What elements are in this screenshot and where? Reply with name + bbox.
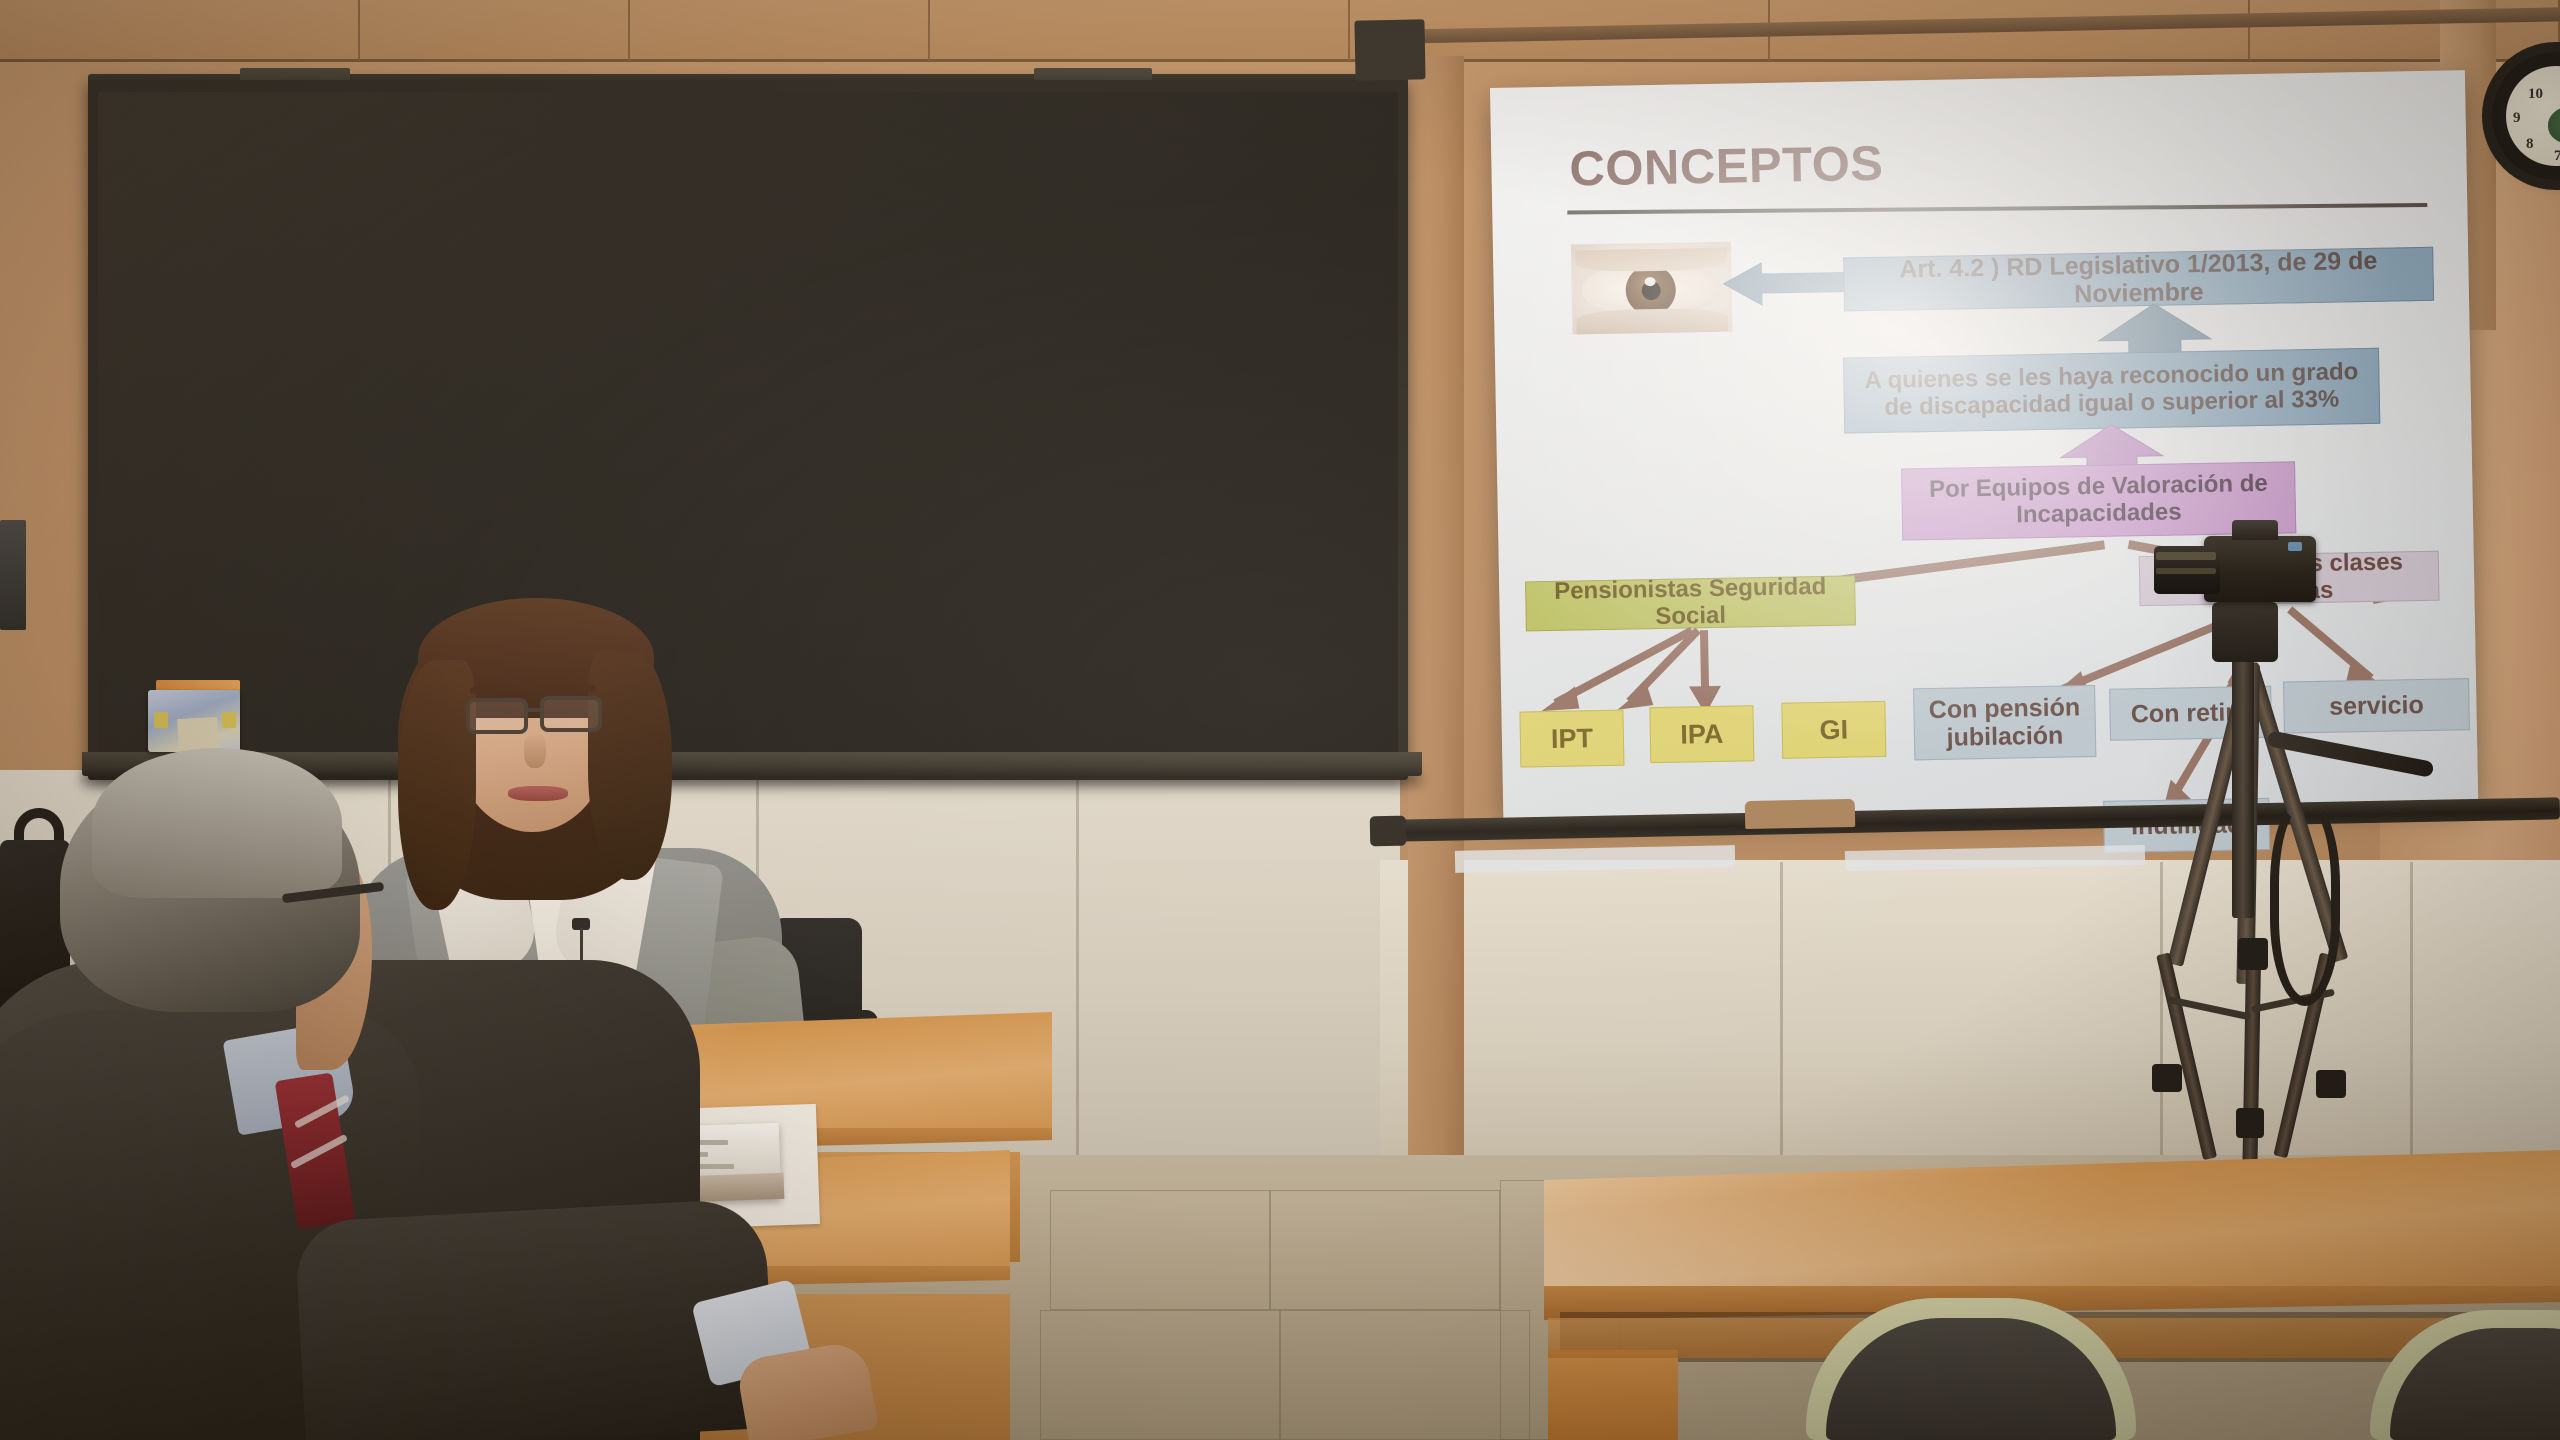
- wall-pillar: [1408, 56, 1464, 1156]
- slide-title: CONCEPTOS: [1569, 136, 1884, 198]
- clock-logo: [2548, 106, 2560, 144]
- slide-box-ipa: IPA: [1649, 705, 1754, 763]
- camera-shutter-button[interactable]: [2288, 542, 2302, 551]
- clock-number-8: 8: [2526, 136, 2534, 153]
- arrow-up-blue-icon: [2094, 303, 2215, 357]
- blackboard: [98, 92, 1398, 764]
- camera-viewfinder: [2232, 520, 2278, 540]
- slide-box-ipt: IPT: [1519, 710, 1624, 768]
- slide-box-pension-jubilacion: Con pensión jubilación: [1913, 685, 2096, 760]
- clock-number-7: 7: [2554, 148, 2560, 165]
- tripod-head: [2212, 602, 2278, 662]
- classroom-scene: 11 10 9 8 7 CONCEPTOS: [0, 0, 2560, 1440]
- clock-number-9: 9: [2513, 110, 2521, 127]
- wall-panel-right: [1380, 860, 2560, 1160]
- clock-number-10: 10: [2528, 86, 2543, 103]
- arrow-to-eye-icon: [1723, 259, 1854, 307]
- screen-housing: [1354, 19, 1425, 80]
- camera-tripod: [2120, 608, 2380, 1168]
- slide-box-grado: A quienes se les haya reconocido un grad…: [1843, 348, 2380, 434]
- camera-strap: [2270, 796, 2340, 1006]
- eye-image: [1571, 242, 1733, 335]
- slide-box-gi: GI: [1781, 701, 1886, 759]
- screen-weight: [1745, 799, 1856, 829]
- slide-box-art: Art. 4.2 ) RD Legislativo 1/2013, de 29 …: [1843, 247, 2434, 312]
- slide-title-rule: [1567, 203, 2427, 215]
- clock-face: 11 10 9 8 7: [2506, 66, 2560, 166]
- wall-sign: [0, 520, 26, 630]
- speaker-eyeglasses: [466, 698, 528, 734]
